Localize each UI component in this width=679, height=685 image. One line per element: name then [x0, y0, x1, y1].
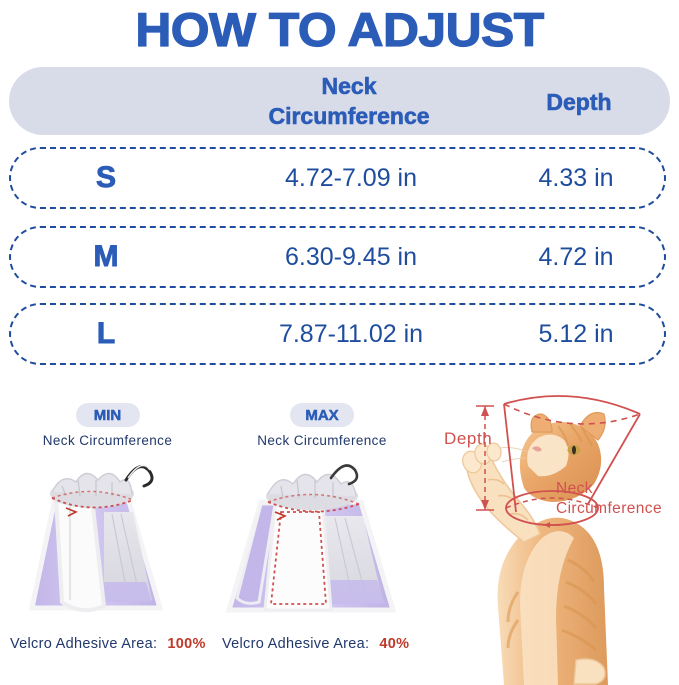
row-size-label: S: [51, 149, 161, 207]
badge-min: MIN: [76, 403, 140, 427]
panel-min-sublabel: Neck Circumference: [0, 433, 215, 448]
page-title: HOW TO ADJUST: [0, 2, 679, 57]
table-row: M 6.30-9.45 in 4.72 in: [9, 226, 666, 288]
depth-annotation-label: Depth: [444, 429, 492, 449]
cat-measurement-diagram: Depth Neck Circumference: [428, 392, 679, 685]
cone-lower-band: [100, 582, 152, 602]
row-neck-value: 4.72-7.09 in: [161, 149, 541, 207]
table-row: L 7.87-11.02 in 5.12 in: [9, 303, 666, 365]
infographic-page: HOW TO ADJUST Neck Circumference Depth S…: [0, 0, 679, 685]
header-neck-line1: Neck: [159, 71, 539, 101]
velcro-label: Velcro Adhesive Area:: [10, 636, 157, 652]
velcro-value: 40%: [379, 636, 409, 652]
velcro-label: Velcro Adhesive Area:: [222, 636, 369, 652]
panel-max-sublabel: Neck Circumference: [213, 433, 431, 448]
row-neck-value: 7.87-11.02 in: [161, 305, 541, 363]
badge-max: MAX: [290, 403, 354, 427]
row-depth-value: 5.12 in: [486, 305, 666, 363]
row-size-label: L: [51, 305, 161, 363]
velcro-info-min: Velcro Adhesive Area:100%: [10, 636, 206, 652]
velcro-info-max: Velcro Adhesive Area:40%: [222, 636, 409, 652]
row-neck-value: 6.30-9.45 in: [161, 228, 541, 286]
neck-annotation-label: Neck Circumference: [556, 479, 662, 519]
table-header-bar: Neck Circumference Depth: [9, 67, 670, 135]
header-depth: Depth: [489, 89, 669, 116]
cone-max-svg: [213, 450, 431, 625]
cone-velcro-strip: [265, 506, 331, 610]
row-depth-value: 4.72 in: [486, 228, 666, 286]
neck-annotation-line1: Neck: [556, 479, 662, 499]
table-row: S 4.72-7.09 in 4.33 in: [9, 147, 666, 209]
cone-min-illustration: [0, 450, 215, 625]
header-neck-circumference: Neck Circumference: [159, 71, 539, 131]
cone-min-svg: [0, 450, 215, 625]
row-size-label: M: [51, 228, 161, 286]
depth-arrow-top: [481, 406, 489, 416]
cat-pupil: [572, 446, 576, 455]
row-depth-value: 4.33 in: [486, 149, 666, 207]
cone-collar-scrunch: [268, 474, 356, 496]
cone-max-illustration: [213, 450, 431, 625]
cat-ear-left: [531, 414, 552, 432]
panel-max: MAX Neck Circumference: [213, 395, 431, 625]
neck-annotation-line2: Circumference: [556, 499, 662, 519]
cone-lower-band: [325, 580, 385, 604]
cone-top-front: [504, 396, 640, 414]
header-neck-line2: Circumference: [159, 101, 539, 131]
panel-min: MIN Neck Circumference: [0, 395, 215, 625]
velcro-value: 100%: [167, 636, 205, 652]
